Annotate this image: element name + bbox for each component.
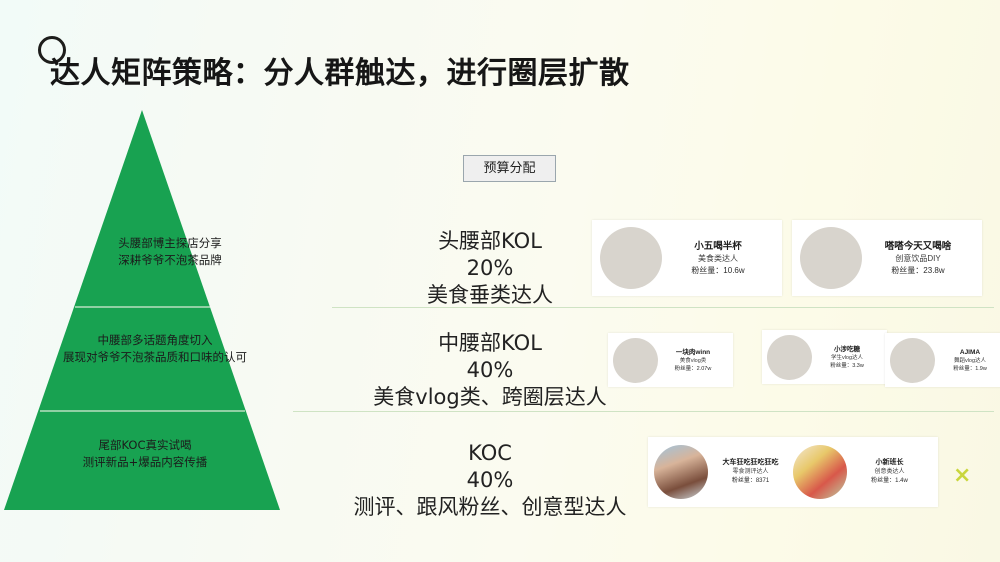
tier-bottom-line1: 尾部KOC真实试喝 bbox=[99, 438, 192, 452]
influencer-meta: 小五喝半杯 美食类达人 粉丝量：10.6w bbox=[662, 240, 774, 277]
pyramid-tier-middle-label: 中腰部多话题角度切入 展现对爷爷不泡茶品质和口味的认可 bbox=[0, 332, 325, 366]
avatar bbox=[800, 227, 862, 289]
avatar bbox=[793, 445, 847, 499]
tier-bottom-line2: 测评新品+爆品内容传播 bbox=[83, 455, 208, 469]
influencer-category: 零食测评达人 bbox=[711, 468, 790, 477]
segment-kol-info: 头腰部KOL 20% 美食垂类达人 bbox=[370, 228, 610, 309]
influencer-card-group-koc[interactable]: 大车狂吃狂吃狂吃 零食测评达人 粉丝量：8371 小新班长 创意类达人 粉丝量：… bbox=[648, 437, 938, 507]
influencer-card[interactable]: AJIMA 舞蹈vlog达人 粉丝量：1.9w bbox=[885, 333, 1000, 387]
segment-kol-description: 美食垂类达人 bbox=[370, 282, 610, 309]
influencer-meta: 小涉吃糖 学生vlog达人 粉丝量：3.3w bbox=[812, 345, 882, 370]
influencer-category: 美食类达人 bbox=[666, 253, 770, 265]
avatar bbox=[613, 338, 658, 383]
tier-top-line2: 深耕爷爷不泡茶品牌 bbox=[118, 253, 222, 267]
segment-koc-percent: 40% bbox=[340, 467, 640, 494]
influencer-fans: 粉丝量：8371 bbox=[711, 477, 790, 486]
influencer-category: 舞蹈vlog达人 bbox=[939, 357, 1000, 365]
segment-mid-kol-tier-name: 中腰部KOL bbox=[350, 330, 630, 357]
influencer-name: 小五喝半杯 bbox=[666, 240, 770, 253]
influencer-card[interactable]: 一块肉winn 美食vlog类 粉丝量：2.07w bbox=[608, 333, 733, 387]
influencer-name: AJIMA bbox=[939, 348, 1000, 357]
section-divider-bottom bbox=[293, 411, 994, 412]
influencer-card[interactable]: 小五喝半杯 美食类达人 粉丝量：10.6w bbox=[592, 220, 782, 296]
pyramid-tier-top-label: 头腰部博主探店分享 深耕爷爷不泡茶品牌 bbox=[0, 235, 340, 269]
influencer-card[interactable]: 嗒嗒今天又喝啥 创意饮品DIY 粉丝量：23.8w bbox=[792, 220, 982, 296]
influencer-fans: 粉丝量：1.9w bbox=[939, 365, 1000, 373]
segment-koc-info: KOC 40% 测评、跟风粉丝、创意型达人 bbox=[340, 440, 640, 521]
segment-kol-percent: 20% bbox=[370, 255, 610, 282]
influencer-category: 创意类达人 bbox=[850, 468, 929, 477]
segment-mid-kol-description: 美食vlog类、跨圈层达人 bbox=[350, 384, 630, 411]
influencer-meta: 小新班长 创意类达人 粉丝量：1.4w bbox=[847, 458, 932, 486]
influencer-name: 小涉吃糖 bbox=[816, 345, 878, 354]
close-icon[interactable]: × bbox=[953, 465, 971, 487]
avatar bbox=[654, 445, 708, 499]
influencer-name: 大车狂吃狂吃狂吃 bbox=[711, 458, 790, 468]
influencer-fans: 粉丝量：2.07w bbox=[662, 365, 724, 373]
segment-koc-tier-name: KOC bbox=[340, 440, 640, 467]
segment-mid-kol-info: 中腰部KOL 40% 美食vlog类、跨圈层达人 bbox=[350, 330, 630, 411]
influencer-meta: 大车狂吃狂吃狂吃 零食测评达人 粉丝量：8371 bbox=[708, 458, 793, 486]
influencer-fans: 粉丝量：1.4w bbox=[850, 477, 929, 486]
segment-koc-description: 测评、跟风粉丝、创意型达人 bbox=[340, 494, 640, 521]
page-title: 达人矩阵策略：分人群触达，进行圈层扩散 bbox=[50, 48, 630, 92]
influencer-name: 嗒嗒今天又喝啥 bbox=[866, 240, 970, 253]
influencer-category: 美食vlog类 bbox=[662, 357, 724, 365]
avatar bbox=[890, 338, 935, 383]
influencer-meta: 一块肉winn 美食vlog类 粉丝量：2.07w bbox=[658, 348, 728, 373]
tier-middle-line2: 展现对爷爷不泡茶品质和口味的认可 bbox=[63, 350, 247, 364]
pyramid-tier-bottom-label: 尾部KOC真实试喝 测评新品+爆品内容传播 bbox=[0, 437, 315, 471]
segment-kol-tier-name: 头腰部KOL bbox=[370, 228, 610, 255]
influencer-meta: 嗒嗒今天又喝啥 创意饮品DIY 粉丝量：23.8w bbox=[862, 240, 974, 277]
page-header: 达人矩阵策略：分人群触达，进行圈层扩散 bbox=[0, 0, 1000, 100]
tier-top-line1: 头腰部博主探店分享 bbox=[118, 236, 222, 250]
influencer-card[interactable]: 小涉吃糖 学生vlog达人 粉丝量：3.3w bbox=[762, 330, 887, 384]
influencer-fans: 粉丝量：3.3w bbox=[816, 362, 878, 370]
influencer-entry[interactable]: 小新班长 创意类达人 粉丝量：1.4w bbox=[793, 445, 932, 499]
segment-mid-kol-percent: 40% bbox=[350, 357, 630, 384]
influencer-entry[interactable]: 大车狂吃狂吃狂吃 零食测评达人 粉丝量：8371 bbox=[654, 445, 793, 499]
influencer-category: 学生vlog达人 bbox=[816, 354, 878, 362]
influencer-meta: AJIMA 舞蹈vlog达人 粉丝量：1.9w bbox=[935, 348, 1000, 373]
influencer-fans: 粉丝量：23.8w bbox=[866, 265, 970, 277]
avatar bbox=[767, 335, 812, 380]
budget-allocation-button[interactable]: 预算分配 bbox=[463, 155, 556, 182]
avatar bbox=[600, 227, 662, 289]
influencer-name: 一块肉winn bbox=[662, 348, 724, 357]
influencer-fans: 粉丝量：10.6w bbox=[666, 265, 770, 277]
tier-middle-line1: 中腰部多话题角度切入 bbox=[98, 333, 213, 347]
influencer-name: 小新班长 bbox=[850, 458, 929, 468]
influencer-category: 创意饮品DIY bbox=[866, 253, 970, 265]
